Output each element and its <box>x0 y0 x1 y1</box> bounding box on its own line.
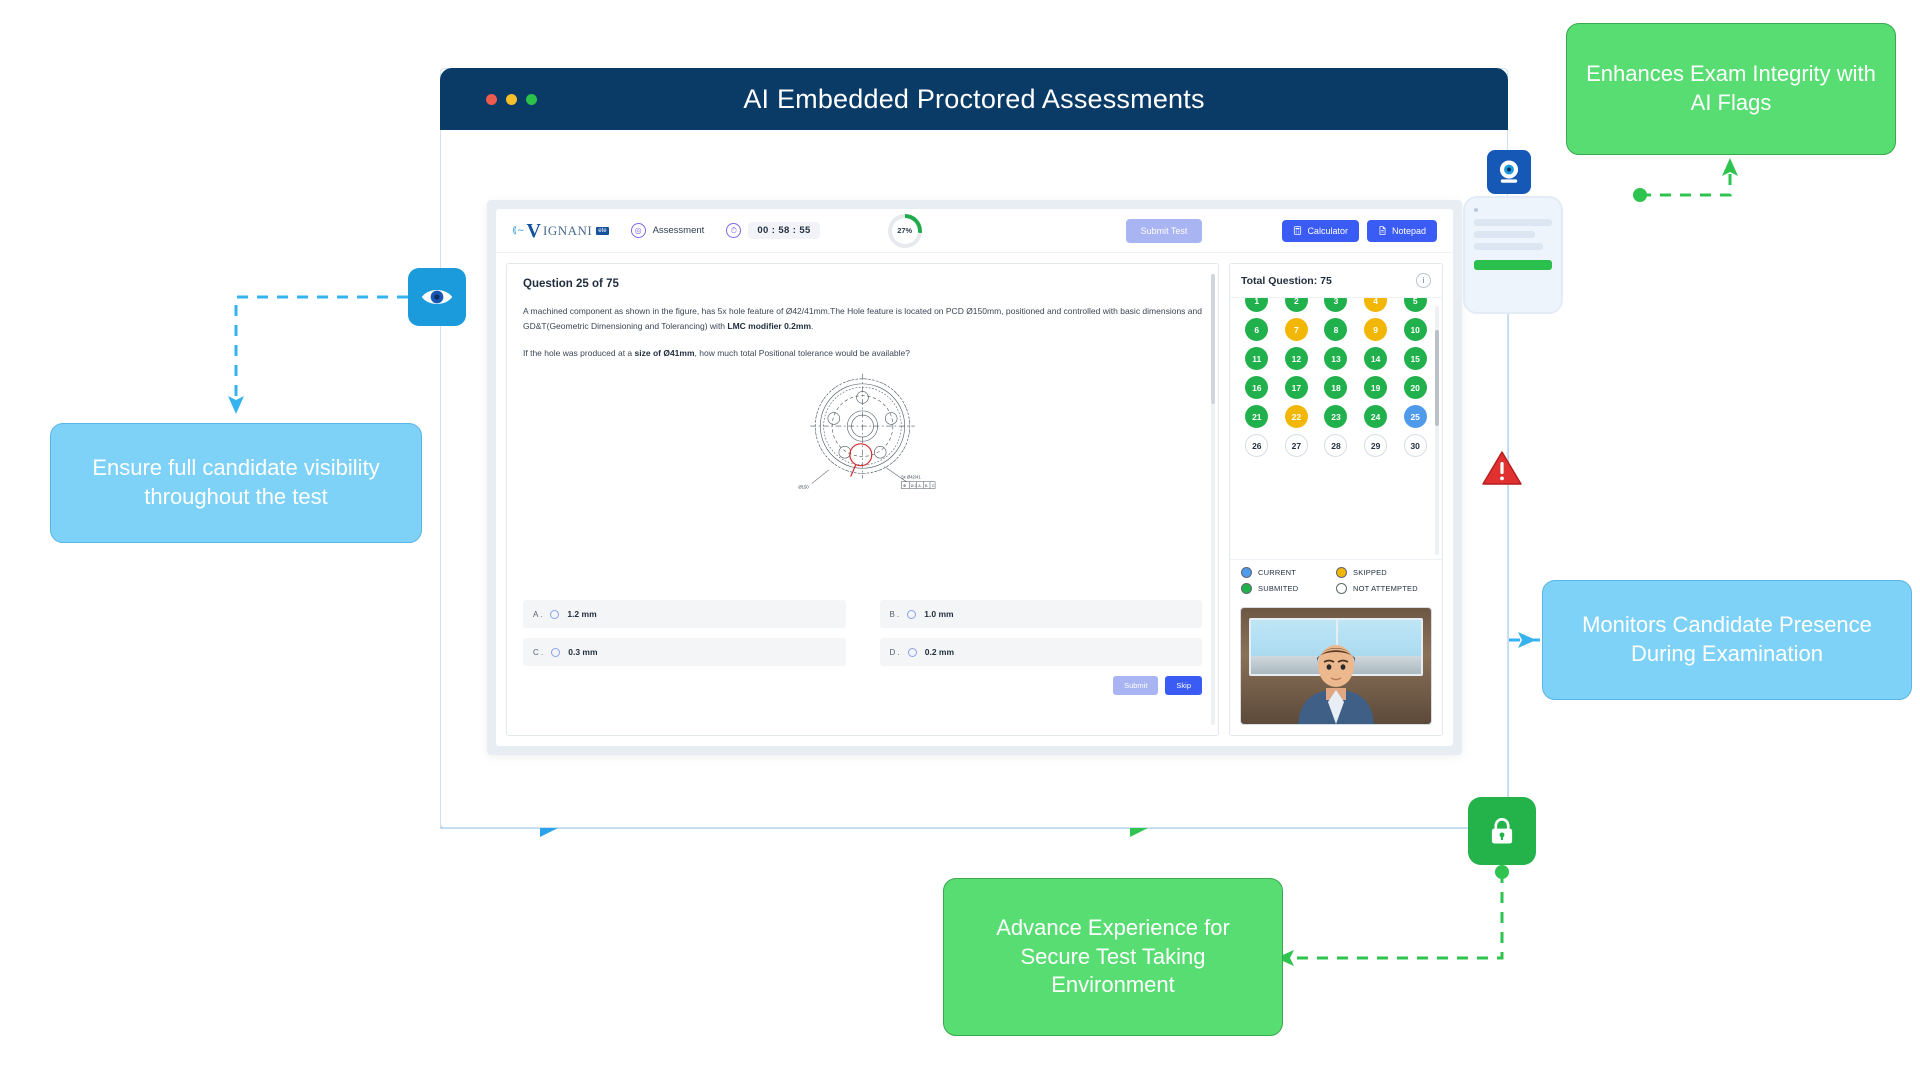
notepad-label: Notepad <box>1392 226 1426 236</box>
question-button[interactable]: 16 <box>1245 376 1268 399</box>
legend-label-submited: SUBMITED <box>1258 584 1298 593</box>
question-button[interactable]: 4 <box>1364 298 1387 312</box>
svg-text:⊕: ⊕ <box>903 483 907 488</box>
question-button[interactable]: 11 <box>1245 347 1268 370</box>
callout-secure: Advance Experience for Secure Test Takin… <box>943 878 1283 1036</box>
palette-scrollbar[interactable] <box>1435 306 1439 555</box>
progress-ring: 27% <box>888 214 922 248</box>
svg-text:A: A <box>918 484 921 488</box>
exam-body: Question 25 of 75 A machined component a… <box>496 253 1453 746</box>
question-button[interactable]: 12 <box>1285 347 1308 370</box>
question-p1-text: A machined component as shown in the fig… <box>523 306 1202 331</box>
question-button[interactable]: 2 <box>1285 298 1308 312</box>
option-b-value: 1.0 mm <box>924 609 953 619</box>
svg-text:Ø150: Ø150 <box>798 484 809 489</box>
question-button[interactable]: 9 <box>1364 318 1387 341</box>
question-pane: Question 25 of 75 A machined component a… <box>506 263 1219 736</box>
legend-item-skipped: SKIPPED <box>1336 567 1431 578</box>
warning-triangle-icon <box>1482 450 1522 486</box>
question-button[interactable]: 30 <box>1404 434 1427 457</box>
question-p1-end: . <box>811 321 813 331</box>
screenshot-root: AI Embedded Proctored Assessments ⟪∼ V I… <box>0 0 1920 1080</box>
eye-icon <box>420 286 454 308</box>
question-button[interactable]: 29 <box>1364 434 1387 457</box>
logo-swoosh-icon: ⟪∼ <box>512 225 525 236</box>
legend-dot-not-attempted <box>1336 583 1347 594</box>
vignani-logo: ⟪∼ V IGNANI ete <box>512 221 609 241</box>
legend-item-current: CURRENT <box>1241 567 1336 578</box>
window-title-bar: AI Embedded Proctored Assessments <box>440 68 1508 130</box>
submit-test-button[interactable]: Submit Test <box>1126 219 1203 243</box>
clock-icon: ⏱ <box>726 223 741 238</box>
logo-wordmark: IGNANI <box>543 223 592 239</box>
question-button[interactable]: 8 <box>1324 318 1347 341</box>
question-button[interactable]: 1 <box>1245 298 1268 312</box>
phone-placeholder-line <box>1474 219 1552 226</box>
option-row-1: A . 1.2 mm B . 1.0 mm <box>523 600 1202 628</box>
lock-badge <box>1468 797 1536 865</box>
option-a-letter: A . <box>533 610 542 619</box>
question-button[interactable]: 27 <box>1285 434 1308 457</box>
question-button[interactable]: 19 <box>1364 376 1387 399</box>
question-heading: Question 25 of 75 <box>523 278 1202 290</box>
legend-row-2: SUBMITED NOT ATTEMPTED <box>1241 583 1431 594</box>
legend-item-submited: SUBMITED <box>1241 583 1336 594</box>
question-button[interactable]: 20 <box>1404 376 1427 399</box>
palette-legend: CURRENT SKIPPED SUBMITED <box>1230 559 1442 607</box>
svg-text:C: C <box>932 484 935 488</box>
timer-value: 00 : 58 : 55 <box>748 222 819 239</box>
option-c-radio[interactable] <box>551 648 560 657</box>
webcam-preview <box>1240 607 1432 725</box>
question-button[interactable]: 17 <box>1285 376 1308 399</box>
assessment-icon: ◎ <box>631 223 646 238</box>
question-button-current[interactable]: 25 <box>1404 405 1427 428</box>
question-button[interactable]: 21 <box>1245 405 1268 428</box>
calculator-label: Calculator <box>1307 226 1348 236</box>
question-button[interactable]: 13 <box>1324 347 1347 370</box>
question-button[interactable]: 3 <box>1324 298 1347 312</box>
assessment-indicator: ◎ Assessment <box>631 223 705 238</box>
notepad-button[interactable]: Notepad <box>1367 220 1437 242</box>
legend-label-not-attempted: NOT ATTEMPTED <box>1353 584 1418 593</box>
legend-label-current: CURRENT <box>1258 568 1296 577</box>
palette-grid: 1 2 3 4 5 6 7 8 9 10 11 12 13 <box>1240 298 1432 457</box>
question-button[interactable]: 22 <box>1285 405 1308 428</box>
eye-badge <box>408 268 466 326</box>
logo-tag: ete <box>596 227 608 235</box>
option-a-radio[interactable] <box>550 610 559 619</box>
question-button[interactable]: 6 <box>1245 318 1268 341</box>
exam-app-inner: ⟪∼ V IGNANI ete ◎ Assessment ⏱ 00 : 58 :… <box>496 209 1453 746</box>
skip-question-button[interactable]: Skip <box>1165 676 1202 695</box>
calculator-icon <box>1293 226 1302 235</box>
question-p2-end: , how much total Positional tolerance wo… <box>695 348 910 358</box>
legend-dot-submited <box>1241 583 1252 594</box>
option-c[interactable]: C . 0.3 mm <box>523 638 846 666</box>
option-d-value: 0.2 mm <box>925 647 954 657</box>
candidate-avatar <box>1288 632 1384 724</box>
tool-buttons: Calculator Notepad <box>1282 220 1437 242</box>
question-palette-pane: Total Question: 75 i 1 2 3 4 5 6 7 8 <box>1229 263 1443 736</box>
option-a-value: 1.2 mm <box>567 609 596 619</box>
callout-visibility: Ensure full candidate visibility through… <box>50 423 422 543</box>
question-button[interactable]: 23 <box>1324 405 1347 428</box>
answer-options: A . 1.2 mm B . 1.0 mm <box>523 600 1202 695</box>
question-button[interactable]: 10 <box>1404 318 1427 341</box>
option-d[interactable]: D . 0.2 mm <box>880 638 1203 666</box>
question-button[interactable]: 26 <box>1245 434 1268 457</box>
option-b[interactable]: B . 1.0 mm <box>880 600 1203 628</box>
exam-app-card: ⟪∼ V IGNANI ete ◎ Assessment ⏱ 00 : 58 :… <box>487 200 1462 755</box>
callout-presence: Monitors Candidate Presence During Exami… <box>1542 580 1912 700</box>
legend-dot-current <box>1241 567 1252 578</box>
palette-grid-wrap: 1 2 3 4 5 6 7 8 9 10 11 12 13 <box>1230 298 1442 559</box>
lock-icon <box>1488 815 1516 847</box>
svg-text:B: B <box>925 484 928 488</box>
option-d-radio[interactable] <box>908 648 917 657</box>
question-p2-bold: size of Ø41mm <box>635 348 695 358</box>
question-scrollbar[interactable] <box>1211 274 1215 725</box>
option-b-letter: B . <box>890 610 900 619</box>
legend-item-not-attempted: NOT ATTEMPTED <box>1336 583 1431 594</box>
option-b-radio[interactable] <box>907 610 916 619</box>
question-p2-text: If the hole was produced at a <box>523 348 635 358</box>
legend-label-skipped: SKIPPED <box>1353 568 1387 577</box>
palette-header: Total Question: 75 i <box>1230 264 1442 298</box>
window-title: AI Embedded Proctored Assessments <box>440 84 1508 115</box>
legend-dot-skipped <box>1336 567 1347 578</box>
option-c-letter: C . <box>533 648 543 657</box>
phone-placeholder-line <box>1474 231 1535 238</box>
logo-letter-v: V <box>527 221 541 241</box>
question-paragraph-1: A machined component as shown in the fig… <box>523 304 1202 334</box>
callout-integrity: Enhances Exam Integrity with AI Flags <box>1566 23 1896 155</box>
submit-answer-button[interactable]: Submit <box>1113 676 1158 695</box>
notepad-icon <box>1378 226 1387 235</box>
exam-toolbar: ⟪∼ V IGNANI ete ◎ Assessment ⏱ 00 : 58 :… <box>496 209 1453 253</box>
svg-text:5x Ø42/41: 5x Ø42/41 <box>901 474 921 479</box>
legend-row-1: CURRENT SKIPPED <box>1241 567 1431 578</box>
assessment-label: Assessment <box>653 225 705 236</box>
info-icon[interactable]: i <box>1416 273 1431 288</box>
phone-status-bar <box>1474 260 1552 270</box>
question-button[interactable]: 7 <box>1285 318 1308 341</box>
webcam-badge <box>1487 150 1531 194</box>
question-button[interactable]: 24 <box>1364 405 1387 428</box>
total-question-label: Total Question: 75 <box>1241 275 1332 287</box>
option-d-letter: D . <box>890 648 900 657</box>
option-a[interactable]: A . 1.2 mm <box>523 600 846 628</box>
phone-placeholder-line <box>1474 243 1543 250</box>
question-button[interactable]: 18 <box>1324 376 1347 399</box>
option-c-value: 0.3 mm <box>568 647 597 657</box>
question-actions: Submit Skip <box>523 676 1202 695</box>
calculator-button[interactable]: Calculator <box>1282 220 1359 242</box>
webcam-icon <box>1495 158 1523 186</box>
question-button[interactable]: 28 <box>1324 434 1347 457</box>
question-button[interactable]: 5 <box>1404 298 1427 312</box>
question-figure-wrap: Ø150 5x Ø42/41 ⊕ Ø.2 A B C <box>523 367 1202 502</box>
question-p1-bold: LMC modifier 0.2mm <box>727 321 811 331</box>
phone-camera-dot <box>1474 208 1478 212</box>
option-row-2: C . 0.3 mm D . 0.2 mm <box>523 638 1202 666</box>
question-paragraph-2: If the hole was produced at a size of Ø4… <box>523 346 1202 361</box>
progress-label: 27% <box>897 226 912 235</box>
timer-indicator: ⏱ 00 : 58 : 55 <box>726 222 819 239</box>
mobile-device-mock <box>1463 196 1563 314</box>
engineering-drawing-figure: Ø150 5x Ø42/41 ⊕ Ø.2 A B C <box>775 367 950 502</box>
svg-text:Ø.2: Ø.2 <box>911 484 917 488</box>
question-button[interactable]: 15 <box>1404 347 1427 370</box>
question-button[interactable]: 14 <box>1364 347 1387 370</box>
